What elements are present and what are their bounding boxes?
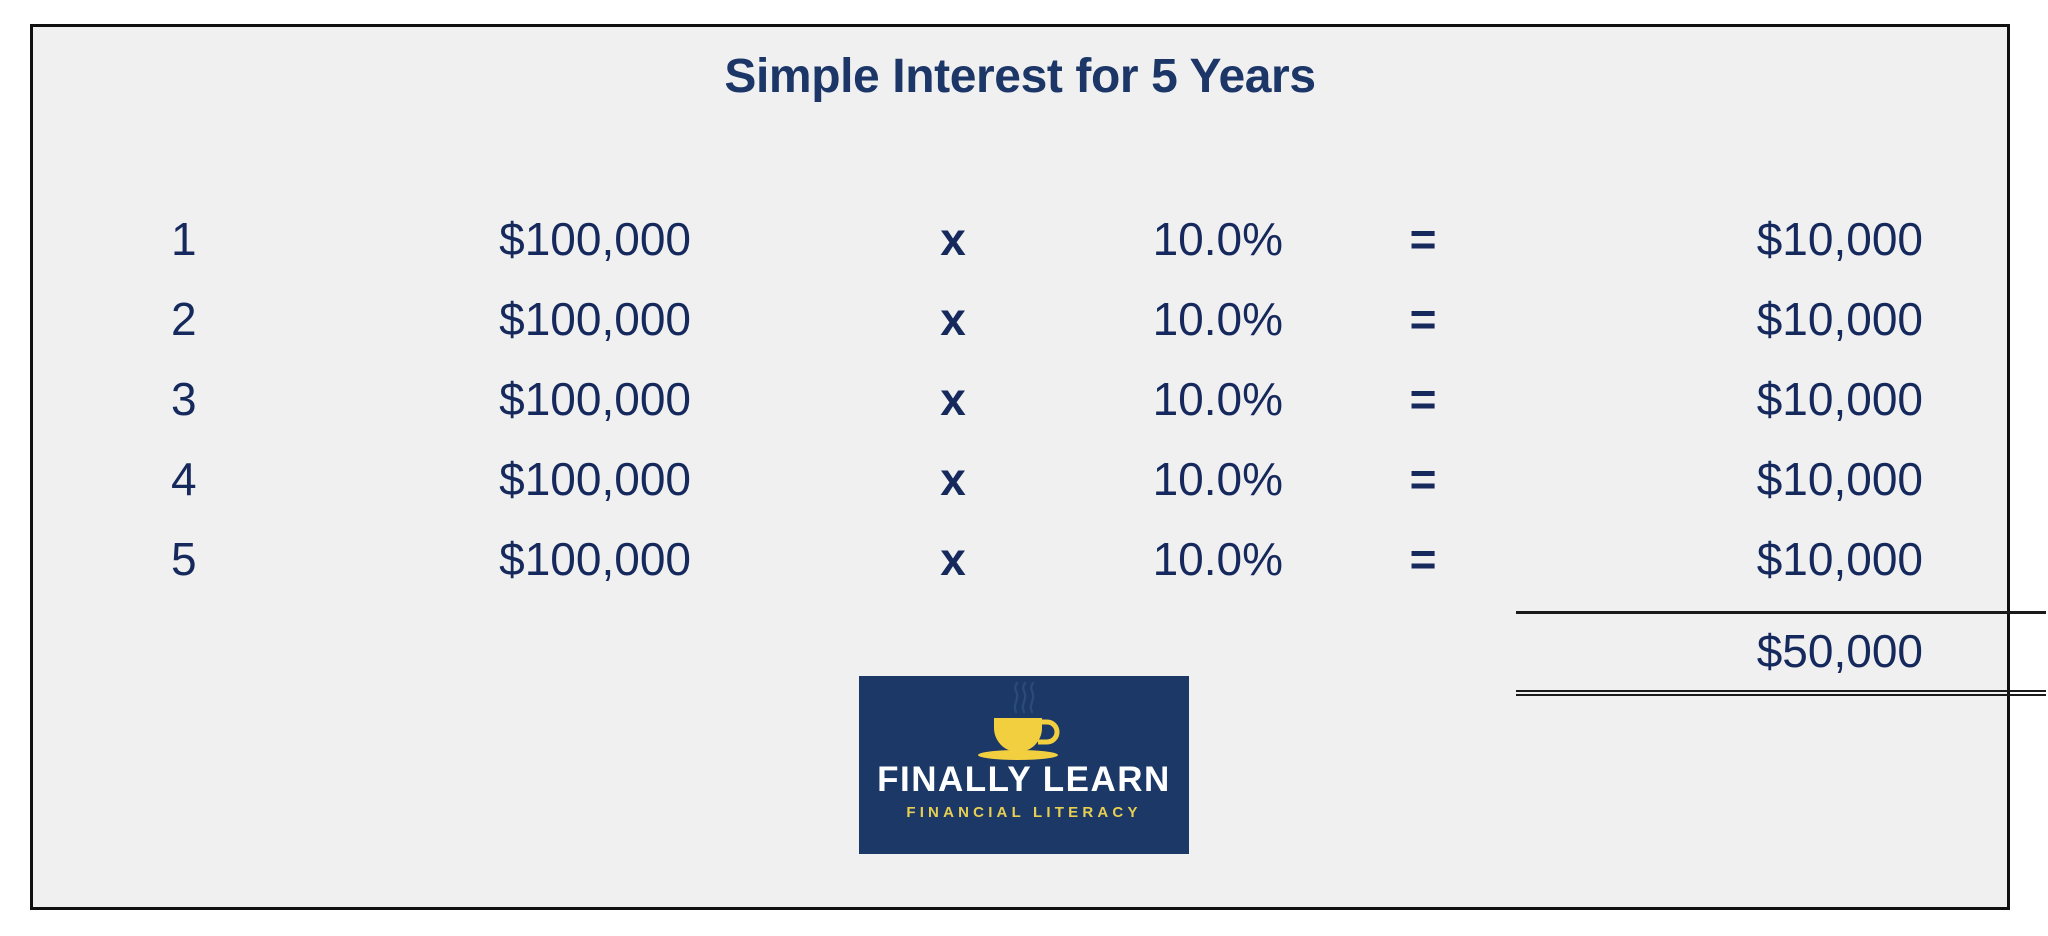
- table-row: 1 $100,000 x 10.0% = $10,000: [33, 199, 2007, 279]
- row-rate: 10.0%: [1073, 359, 1283, 439]
- row-year: 4: [171, 439, 291, 519]
- row-principal: $100,000: [291, 199, 691, 279]
- row-year: 2: [171, 279, 291, 359]
- row-year: 5: [171, 519, 291, 599]
- table-row: 4 $100,000 x 10.0% = $10,000: [33, 439, 2007, 519]
- row-year: 1: [171, 199, 291, 279]
- equals-symbol: =: [1373, 359, 1473, 439]
- row-result: $10,000: [1573, 279, 1923, 359]
- row-principal: $100,000: [291, 359, 691, 439]
- row-result: $10,000: [1573, 359, 1923, 439]
- row-principal: $100,000: [291, 439, 691, 519]
- multiply-symbol: x: [893, 519, 1013, 599]
- double-underline-rule: [1516, 690, 2046, 696]
- figure-card: Simple Interest for 5 Years 1 $100,000 x…: [30, 24, 2010, 910]
- equals-symbol: =: [1373, 279, 1473, 359]
- multiply-symbol: x: [893, 439, 1013, 519]
- table-row: 5 $100,000 x 10.0% = $10,000: [33, 519, 2007, 599]
- brand-logo: FINALLY LEARN FINANCIAL LITERACY: [859, 676, 1189, 854]
- interest-calculation-table: 1 $100,000 x 10.0% = $10,000 2 $100,000 …: [33, 199, 2007, 599]
- row-principal: $100,000: [291, 279, 691, 359]
- equals-symbol: =: [1373, 519, 1473, 599]
- coffee-cup-icon: [859, 682, 1189, 762]
- multiply-symbol: x: [893, 279, 1013, 359]
- row-rate: 10.0%: [1073, 279, 1283, 359]
- row-rate: 10.0%: [1073, 199, 1283, 279]
- logo-tagline: FINANCIAL LITERACY: [859, 804, 1189, 821]
- page-title: Simple Interest for 5 Years: [33, 49, 2007, 104]
- row-result: $10,000: [1573, 519, 1923, 599]
- row-principal: $100,000: [291, 519, 691, 599]
- row-rate: 10.0%: [1073, 439, 1283, 519]
- table-row: 2 $100,000 x 10.0% = $10,000: [33, 279, 2007, 359]
- row-result: $10,000: [1573, 439, 1923, 519]
- equals-symbol: =: [1373, 199, 1473, 279]
- multiply-symbol: x: [893, 359, 1013, 439]
- row-year: 3: [171, 359, 291, 439]
- row-rate: 10.0%: [1073, 519, 1283, 599]
- total-value: $50,000: [1516, 614, 1923, 688]
- table-row: 3 $100,000 x 10.0% = $10,000: [33, 359, 2007, 439]
- multiply-symbol: x: [893, 199, 1013, 279]
- row-result: $10,000: [1573, 199, 1923, 279]
- logo-wordmark: FINALLY LEARN: [859, 760, 1189, 800]
- equals-symbol: =: [1373, 439, 1473, 519]
